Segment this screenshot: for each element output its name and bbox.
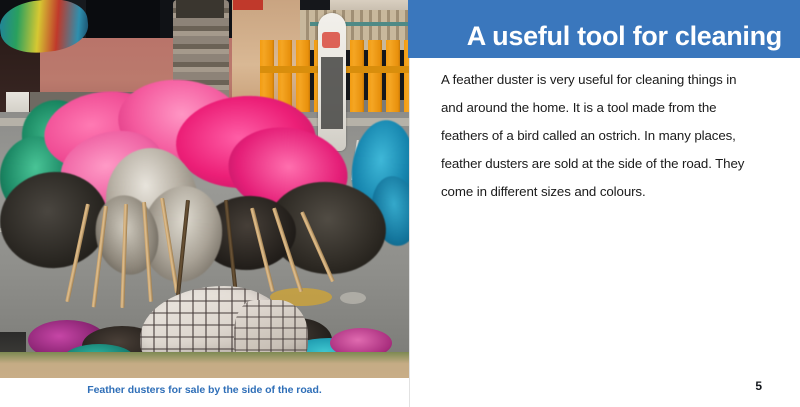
page-number: 5 xyxy=(755,379,762,393)
body-text: A feather duster is very useful for clea… xyxy=(441,66,759,206)
photo-grass-verge xyxy=(0,352,409,378)
body-paragraph: A feather duster is very useful for clea… xyxy=(441,66,759,206)
photo-red-sign xyxy=(233,0,263,10)
photo-palm-canopy xyxy=(176,0,224,18)
photo-caption: Feather dusters for sale by the side of … xyxy=(0,379,409,401)
photo-caption-text: Feather dusters for sale by the side of … xyxy=(87,384,321,396)
photo-sign-logo xyxy=(322,32,340,48)
page-divider xyxy=(409,58,410,407)
book-page: Feather dusters for sale by the side of … xyxy=(0,0,800,407)
photo-sign-chalkboard xyxy=(321,57,343,129)
page-header-bar: A useful tool for cleaning xyxy=(408,0,800,58)
page-title: A useful tool for cleaning xyxy=(467,21,782,52)
photo-road-marking-grey xyxy=(340,292,366,304)
photograph xyxy=(0,0,409,378)
